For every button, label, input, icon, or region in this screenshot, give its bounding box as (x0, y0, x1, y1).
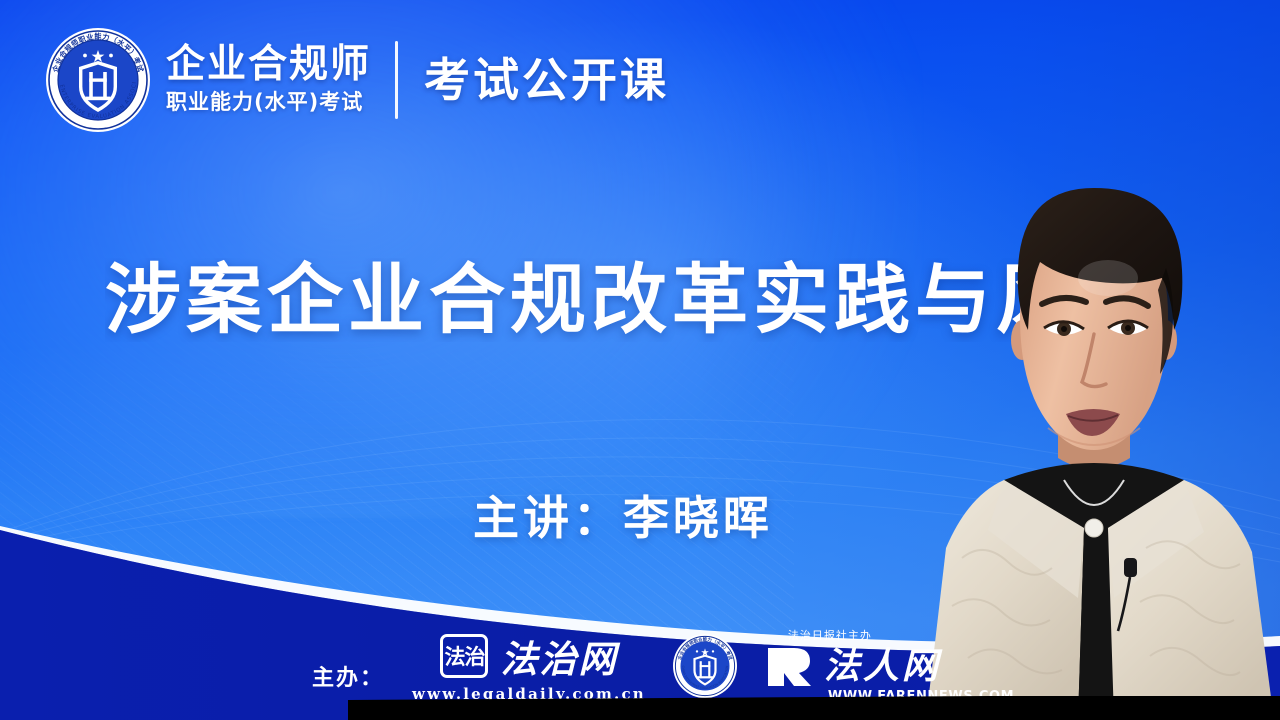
association-emblem-icon: 企业合规师职业能力（水平）考试 CHINA ENTERPRISE EVALUAT… (44, 26, 152, 134)
header-divider (395, 41, 398, 119)
farennews-name: 法人网 (824, 648, 941, 684)
sponsor-farennews[interactable]: 法治日报社主办 法人网 WWW.FARENNEWS.COM (764, 627, 1014, 704)
slide-speaker-text: 主讲：李晓晖 (473, 482, 773, 548)
video-slide-stage: 企业合规师职业能力（水平）考试 CHINA ENTERPRISE EVALUAT… (0, 0, 1280, 720)
association-emblem-small-icon: 企业合规师职业能力（水平）考试 CHINA ENTERPRISE EVALUAT… (672, 633, 738, 699)
bottom-letterbox-bar-right (988, 696, 1280, 720)
brand-main-title: 企业合规师 (166, 45, 371, 86)
brand-text-block: 企业合规师 职业能力(水平)考试 (166, 45, 371, 115)
sponsor-bar: 主办： 法治 法治网 www.legaldaily.com.cn 企业合规师职业… (312, 627, 1014, 704)
farennews-top-note: 法治日报社主办 (788, 627, 872, 643)
legaldaily-name: 法治网 (500, 629, 617, 683)
brand-sub-title: 职业能力(水平)考试 (166, 89, 371, 115)
sponsor-legaldaily[interactable]: 法治 法治网 www.legaldaily.com.cn (412, 629, 646, 703)
course-label: 考试公开课 (424, 57, 669, 103)
header-brand-bar: 企业合规师职业能力（水平）考试 CHINA ENTERPRISE EVALUAT… (44, 26, 669, 134)
sponsor-association: 企业合规师职业能力（水平）考试 CHINA ENTERPRISE EVALUAT… (672, 633, 738, 699)
bottom-letterbox-bar (348, 694, 988, 720)
legaldaily-seal-icon: 法治 (440, 634, 488, 678)
farennews-r-mark-icon (764, 644, 816, 688)
sponsor-label: 主办： (312, 660, 384, 692)
